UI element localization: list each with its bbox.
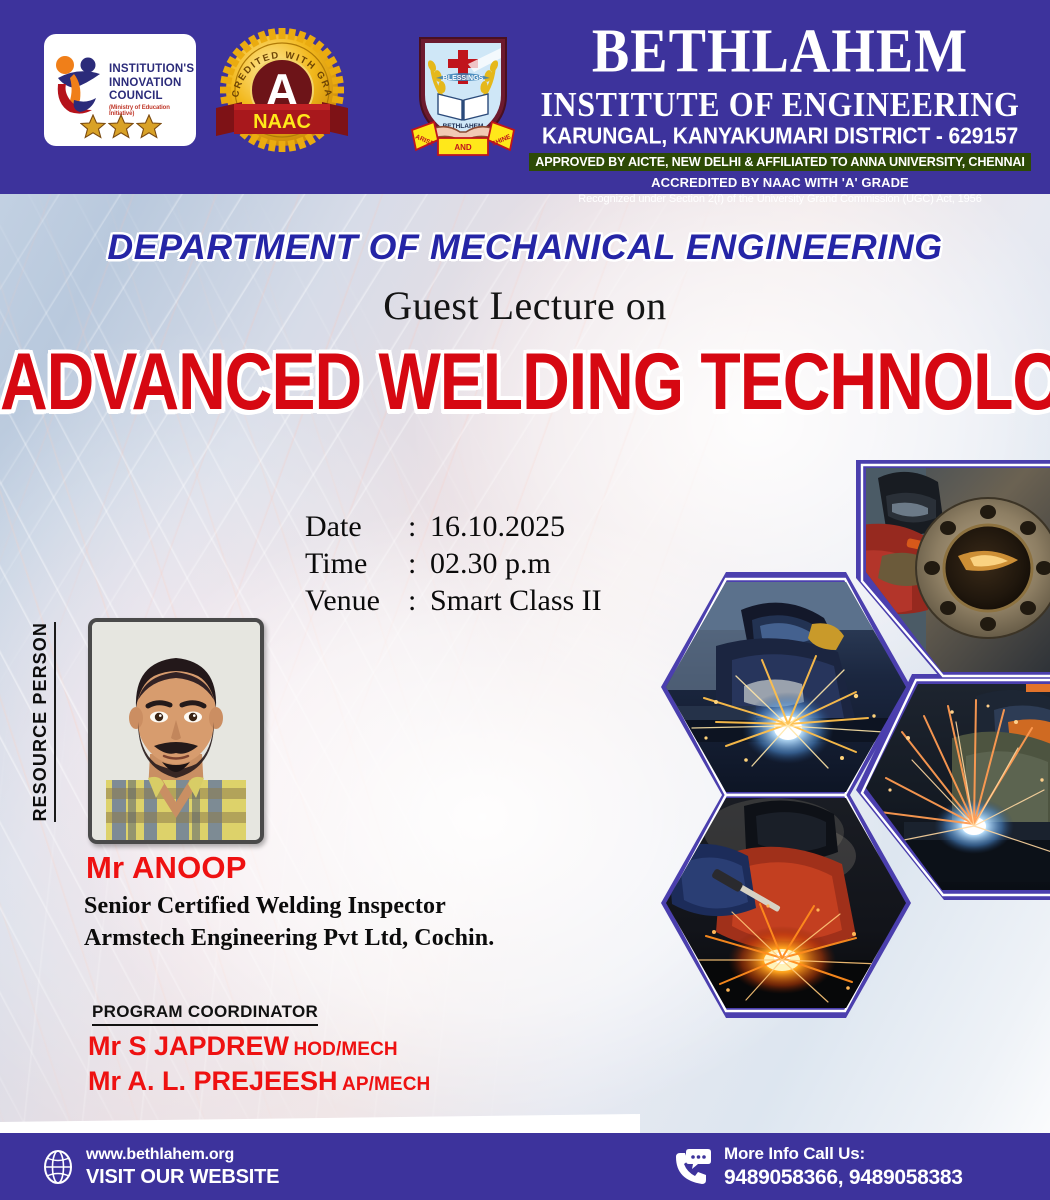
crest-motto-center: AND bbox=[454, 143, 472, 152]
website-cta: VISIT OUR WEBSITE bbox=[86, 1165, 279, 1189]
poster-header: INSTITUTION'S INNOVATION COUNCIL (Minist… bbox=[0, 0, 1050, 194]
naac-accreditation-line: ACCREDITED BY NAAC WITH 'A' GRADE bbox=[524, 175, 1036, 191]
detail-label-venue: Venue bbox=[305, 582, 408, 619]
detail-label-date: Date bbox=[305, 508, 408, 545]
resource-person-side-label: RESOURCE PERSON bbox=[30, 622, 56, 842]
contact-block[interactable]: More Info Call Us: 9489058366, 948905838… bbox=[672, 1143, 963, 1190]
iic-line-3: COUNCIL bbox=[109, 90, 196, 104]
star-icon bbox=[136, 114, 162, 139]
college-type: INSTITUTE OF ENGINEERING bbox=[524, 85, 1036, 122]
naac-badge-icon: ACCREDITED WITH GRADE A NAAC bbox=[212, 24, 352, 156]
event-details: Date : 16.10.2025 Time : 02.30 p.m Venue… bbox=[305, 508, 602, 619]
resource-person-role: Senior Certified Welding Inspector bbox=[84, 890, 446, 922]
iic-star-rating bbox=[80, 114, 162, 139]
detail-row-date: Date : 16.10.2025 bbox=[305, 508, 602, 545]
iic-line-2: INNOVATION bbox=[109, 77, 196, 91]
coordinator-name-1: Mr S JAPDREW bbox=[88, 1031, 289, 1061]
detail-colon: : bbox=[408, 508, 430, 545]
event-type-label: Guest Lecture on bbox=[0, 280, 1050, 332]
welder-flame-photo bbox=[661, 790, 911, 1020]
detail-label-time: Time bbox=[305, 545, 408, 582]
detail-value-venue: Smart Class II bbox=[430, 582, 602, 619]
star-icon bbox=[80, 114, 106, 139]
college-crest-icon: BLESSINGS BETHLAHEM ARISE AND SHINE bbox=[404, 22, 522, 162]
phone-numbers: 9489058366, 9489058383 bbox=[724, 1165, 963, 1190]
resource-person-side-label-text: RESOURCE PERSON bbox=[30, 622, 56, 822]
globe-icon bbox=[42, 1149, 74, 1185]
detail-value-date: 16.10.2025 bbox=[430, 508, 565, 545]
resource-person-photo bbox=[88, 618, 264, 844]
approval-bar: APPROVED BY AICTE, NEW DELHI & AFFILIATE… bbox=[529, 153, 1031, 171]
detail-colon: : bbox=[408, 582, 430, 619]
call-label: More Info Call Us: bbox=[724, 1143, 963, 1165]
college-name: BETHLAHEM bbox=[524, 20, 1036, 83]
website-url: www.bethlahem.org bbox=[86, 1144, 279, 1165]
college-address: KARUNGAL, KANYAKUMARI DISTRICT - 629157 bbox=[524, 124, 1036, 150]
event-poster: INSTITUTION'S INNOVATION COUNCIL (Minist… bbox=[0, 0, 1050, 1200]
resource-person-organization: Armstech Engineering Pvt Ltd, Cochin. bbox=[84, 922, 494, 954]
ugc-recognition-line: Recognized under Section 2(f) of the Uni… bbox=[524, 192, 1036, 206]
coordinator-designation-1: HOD/MECH bbox=[293, 1039, 397, 1060]
star-icon bbox=[108, 114, 134, 139]
poster-footer: www.bethlahem.org VISIT OUR WEBSITE More… bbox=[0, 1133, 1050, 1200]
phone-chat-icon bbox=[672, 1147, 712, 1187]
department-title: DEPARTMENT OF MECHANICAL ENGINEERING bbox=[0, 228, 1050, 268]
website-block[interactable]: www.bethlahem.org VISIT OUR WEBSITE bbox=[42, 1144, 279, 1189]
detail-row-time: Time : 02.30 p.m bbox=[305, 545, 602, 582]
svg-text:BLESSINGS: BLESSINGS bbox=[443, 75, 484, 82]
resource-person-name: Mr ANOOP bbox=[86, 851, 247, 885]
coordinator-name-2: Mr A. L. PREJEESH bbox=[88, 1066, 338, 1096]
coordinator-row-1: Mr S JAPDREW HOD/MECH bbox=[88, 1030, 398, 1066]
detail-colon: : bbox=[408, 545, 430, 582]
svg-text:NAAC: NAAC bbox=[253, 111, 311, 133]
iic-logo: INSTITUTION'S INNOVATION COUNCIL (Minist… bbox=[44, 34, 196, 146]
coordinator-designation-2: AP/MECH bbox=[342, 1074, 430, 1095]
detail-row-venue: Venue : Smart Class II bbox=[305, 582, 602, 619]
iic-line-1: INSTITUTION'S bbox=[109, 63, 196, 77]
event-title: ADVANCED WELDING TECHNOLOGY bbox=[0, 336, 1050, 426]
welding-photo-collage bbox=[556, 460, 1050, 1140]
college-name-block: BETHLAHEM INSTITUTE OF ENGINEERING KARUN… bbox=[524, 20, 1036, 206]
coordinator-row-2: Mr A. L. PREJEESH AP/MECH bbox=[88, 1065, 430, 1101]
program-coordinator-title: PROGRAM COORDINATOR bbox=[92, 1002, 318, 1026]
detail-value-time: 02.30 p.m bbox=[430, 545, 551, 582]
